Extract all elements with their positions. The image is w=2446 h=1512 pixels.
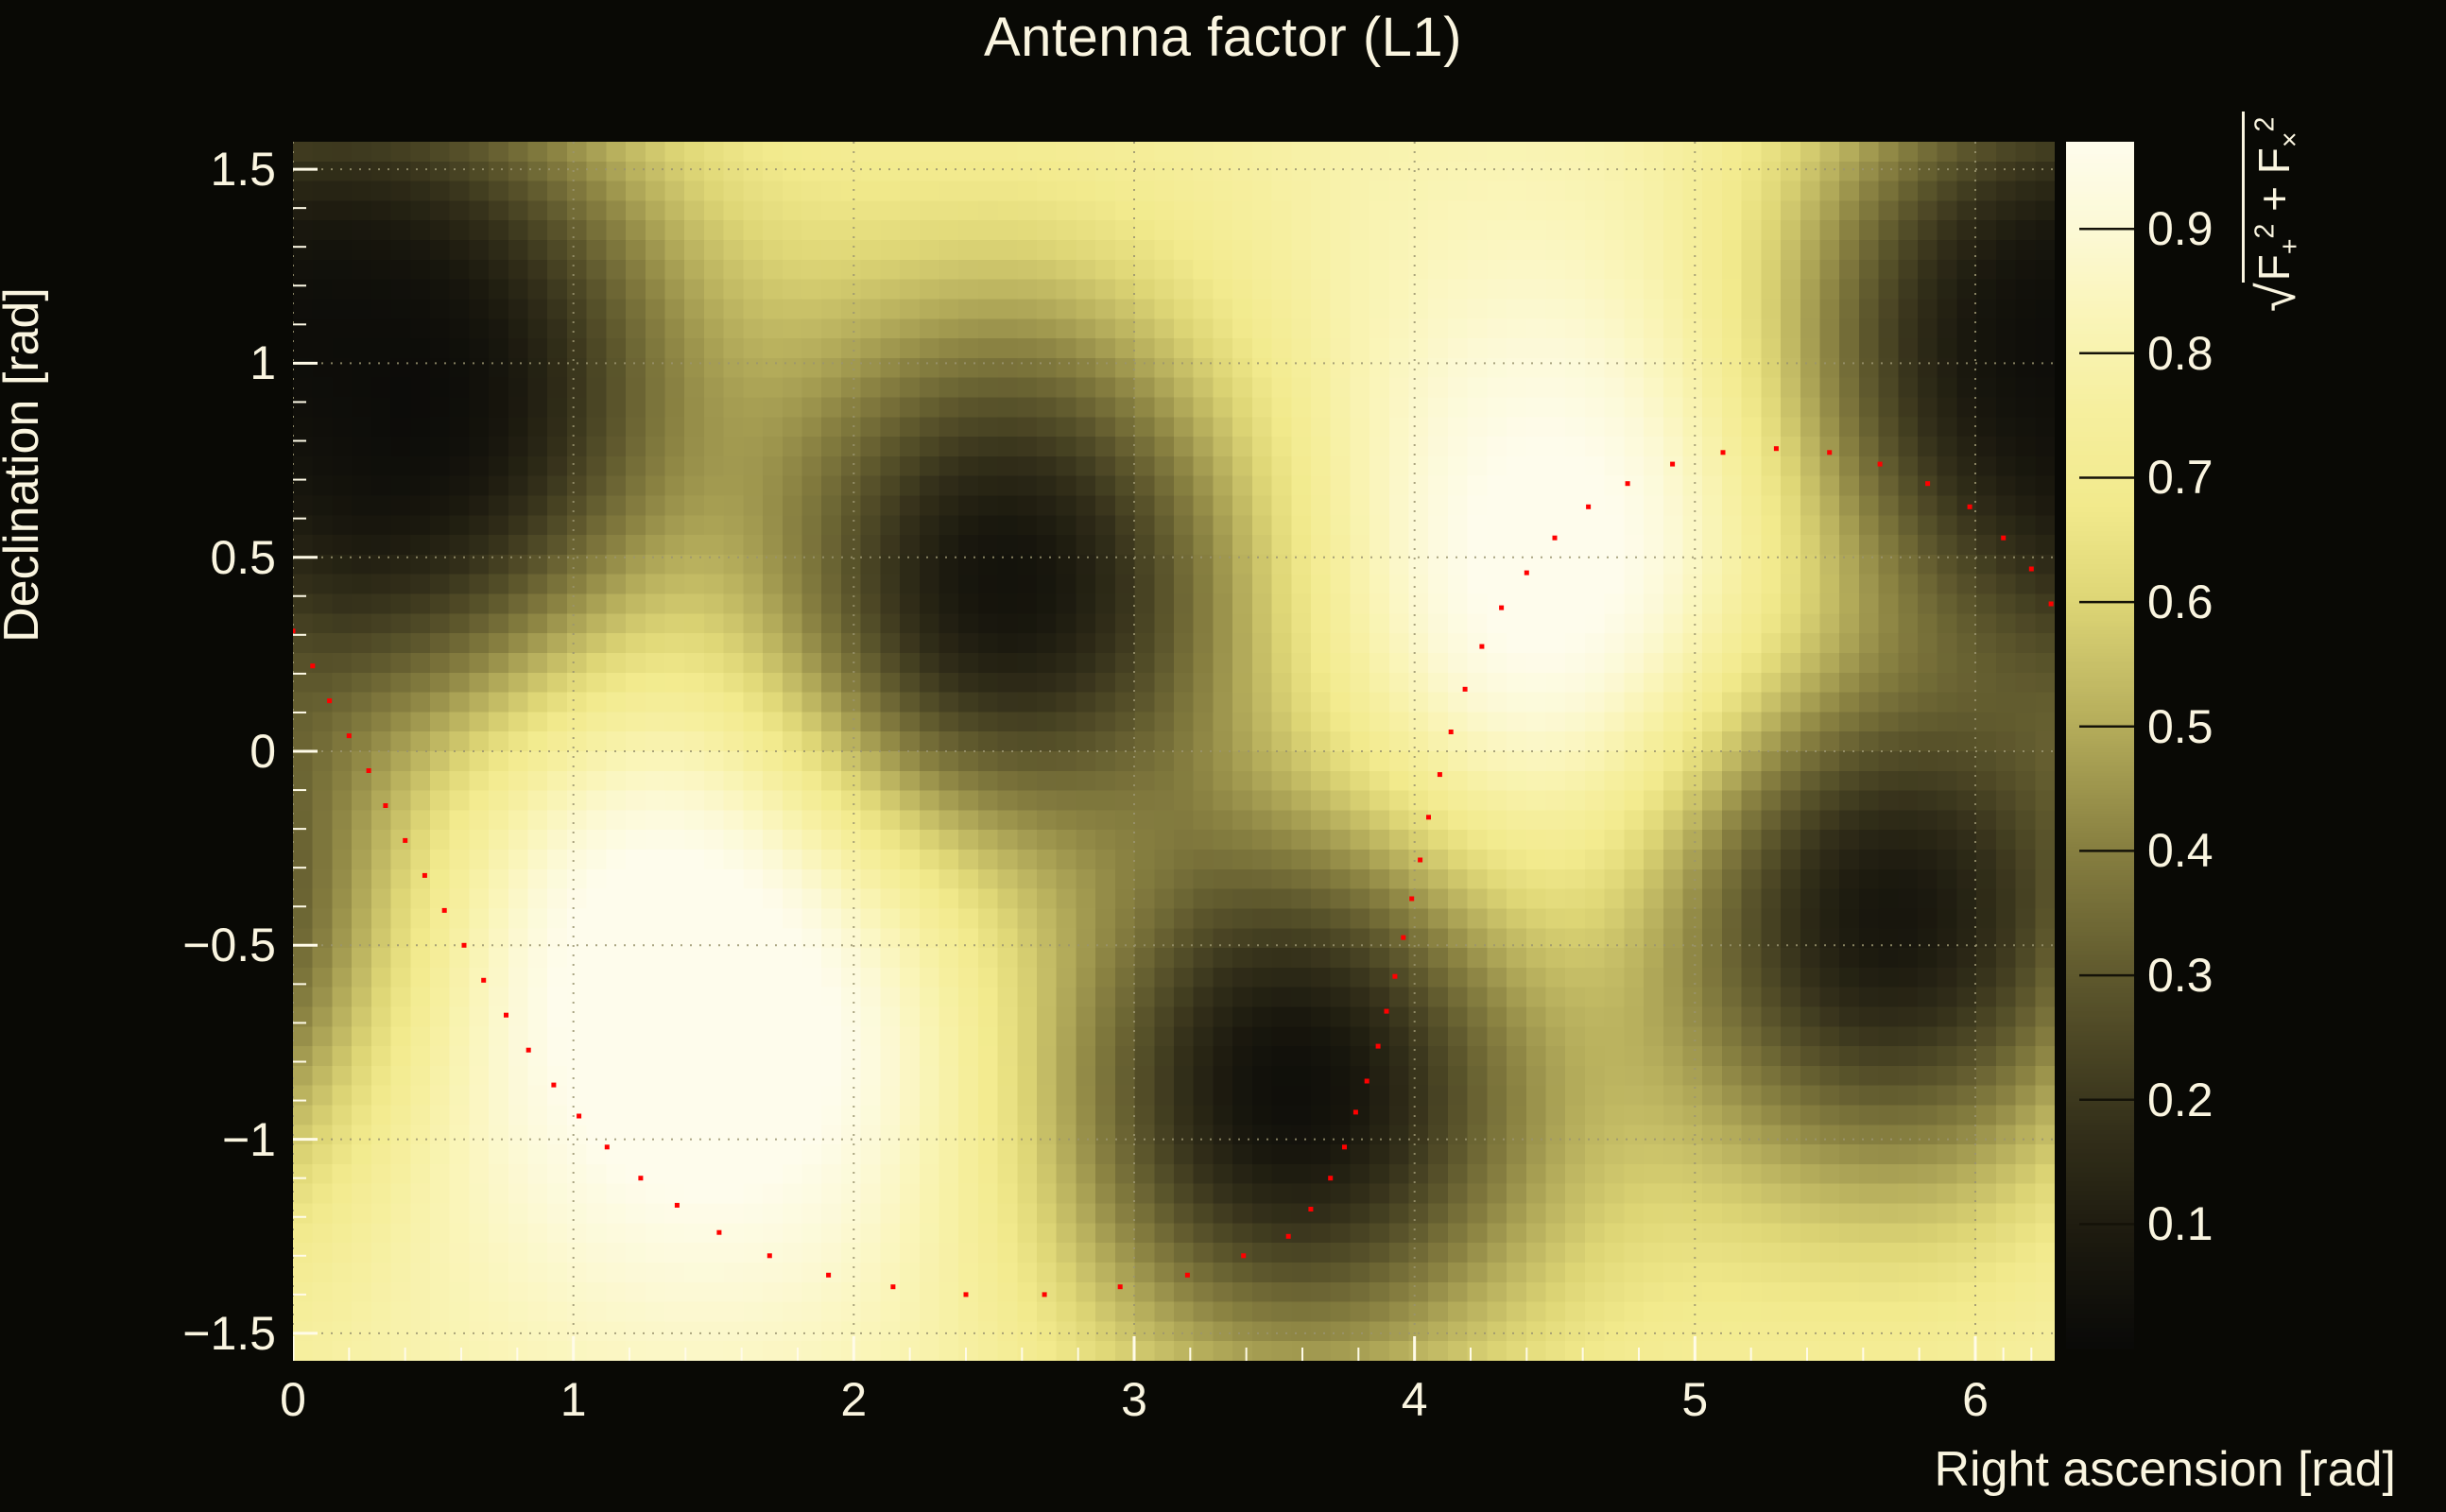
x-tick-label: 2 (840, 1372, 867, 1427)
colorbar-title: √F+2 + F×2 (2242, 112, 2306, 312)
colorbar-tick-label: 0.7 (2147, 450, 2213, 505)
radical-sign: √ (2250, 283, 2303, 312)
x-tick-label: 1 (560, 1372, 587, 1427)
plus-operator (2249, 212, 2299, 224)
x-tick-label: 0 (280, 1372, 306, 1427)
f-plus-exponent: 2 (2250, 224, 2281, 239)
colorbar-tick-label: 0.4 (2147, 823, 2213, 878)
x-axis-title: Right ascension [rad] (1935, 1441, 2397, 1498)
colorbar-gradient (2066, 142, 2134, 1349)
plot-area (293, 142, 2055, 1361)
radicand: F+2 + F×2 (2242, 112, 2306, 283)
x-axis-ticks (293, 1361, 2055, 1389)
f-cross-term: F (2249, 147, 2299, 174)
x-tick-label: 6 (1962, 1372, 1989, 1427)
y-tick-label: −1 (222, 1112, 276, 1167)
f-plus-subscript: + (2275, 239, 2305, 255)
heatmap-canvas (293, 142, 2055, 1361)
y-tick-label: 1 (250, 335, 276, 390)
y-tick-label: −1.5 (182, 1306, 276, 1361)
colorbar-tick-label: 0.9 (2147, 201, 2213, 256)
f-cross-exponent: 2 (2250, 117, 2281, 132)
y-tick-label: 0.5 (210, 530, 276, 585)
colorbar-tick-label: 0.8 (2147, 326, 2213, 381)
colorbar-tick-label: 0.3 (2147, 948, 2213, 1003)
colorbar-tick-label: 0.6 (2147, 575, 2213, 629)
colorbar-tick-label: 0.2 (2147, 1073, 2213, 1127)
f-cross-subscript: × (2275, 131, 2305, 147)
x-tick-label: 3 (1121, 1372, 1147, 1427)
colorbar-tick-label: 0.1 (2147, 1196, 2213, 1251)
plus-sign: + (2249, 186, 2299, 212)
y-axis-title: Declination [rad] (0, 219, 50, 711)
page-title: Antenna factor (L1) (0, 6, 2446, 69)
sqrt-icon: √F+2 + F×2 (2242, 112, 2306, 312)
colorbar (2066, 142, 2134, 1349)
x-tick-label: 5 (1681, 1372, 1708, 1427)
y-tick-label: 0 (250, 724, 276, 779)
plot-canvas: Antenna factor (L1) 0123456 1.510.50−0.5… (0, 0, 2446, 1512)
colorbar-tick-label: 0.5 (2147, 699, 2213, 754)
f-plus-term: F (2249, 254, 2299, 281)
x-tick-label: 4 (1402, 1372, 1428, 1427)
y-tick-label: −0.5 (182, 918, 276, 972)
y-tick-label: 1.5 (210, 142, 276, 197)
space-2 (2249, 174, 2299, 186)
